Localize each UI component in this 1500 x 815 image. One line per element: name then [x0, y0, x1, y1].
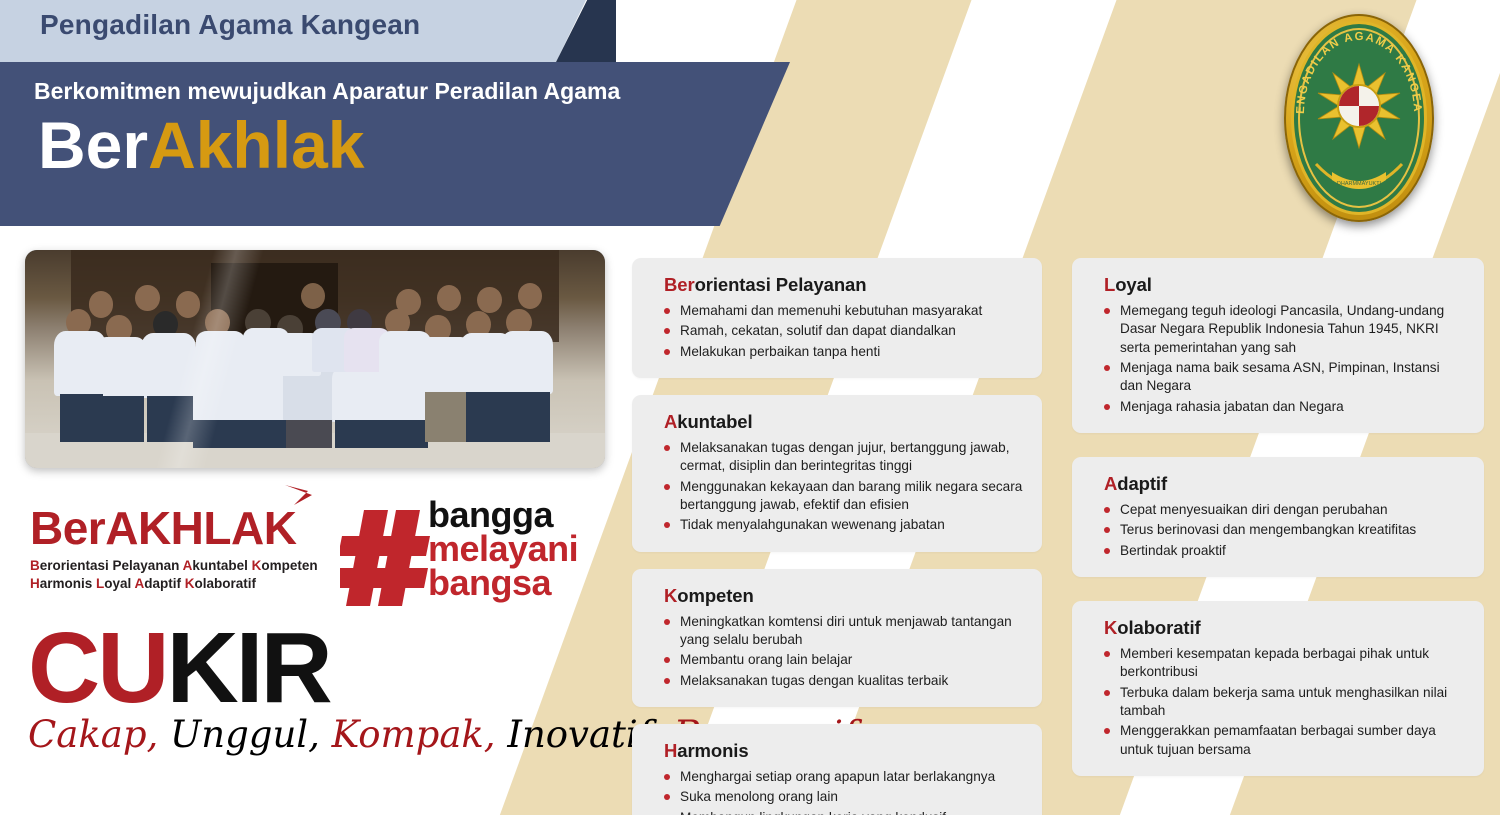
list-item: Menjaga nama baik sesama ASN, Pimpinan, … — [1104, 359, 1466, 396]
list-item: Cepat menyesuaikan diri dengan perubahan — [1104, 501, 1466, 519]
value-card: Akuntabel Melaksanakan tugas dengan juju… — [632, 395, 1042, 552]
institution-name: Pengadilan Agama Kangean — [40, 9, 420, 41]
text-run: A — [135, 576, 145, 591]
text-run: olaboratif — [195, 576, 257, 591]
value-title-rest: armonis — [677, 740, 748, 761]
value-list: Cepat menyesuaikan diri dengan perubahan… — [1104, 501, 1466, 560]
value-title-highlight: Ber — [664, 274, 695, 295]
value-title: Loyal — [1104, 274, 1466, 296]
text-run: B — [30, 558, 40, 573]
value-list: Memegang teguh ideologi Pancasila, Undan… — [1104, 302, 1466, 416]
staff-group-photo — [25, 250, 605, 468]
header-subtitle: Berkomitmen mewujudkan Aparatur Peradila… — [34, 78, 620, 105]
tagline-line-1: Berorientasi Pelayanan Akuntabel Kompete… — [30, 557, 318, 575]
list-item: Membangun lingkungan kerja yang kondusif — [664, 809, 1024, 815]
bangga-melayani-bangsa-logo: bangga melayani bangsa — [340, 498, 600, 616]
text-run: erorientasi Pelayanan — [40, 558, 183, 573]
value-card: Harmonis Menghargai setiap orang apapun … — [632, 724, 1042, 815]
text-run: ompeten — [261, 558, 317, 573]
list-item: Ramah, cekatan, solutif dan dapat dianda… — [664, 322, 1024, 340]
list-item: Menggerakkan pemamfaatan berbagai sumber… — [1104, 722, 1466, 759]
hashtag-line-3: bangsa — [428, 566, 578, 600]
list-item: Melaksanakan tugas dengan kualitas terba… — [664, 672, 1024, 690]
value-title: Kompeten — [664, 585, 1024, 607]
text-run: H — [30, 576, 40, 591]
list-item: Memegang teguh ideologi Pancasila, Undan… — [1104, 302, 1466, 357]
value-title-rest: kuntabel — [677, 411, 752, 432]
list-item: Meningkatkan komtensi diri untuk menjawa… — [664, 613, 1024, 650]
text-run: K — [252, 558, 262, 573]
value-title: Harmonis — [664, 740, 1024, 762]
seal-shield — [1337, 84, 1381, 128]
text-run: oyal — [104, 576, 134, 591]
list-item: Terus berinovasi dan mengembangkan kreat… — [1104, 521, 1466, 539]
list-item: Terbuka dalam bekerja sama untuk menghas… — [1104, 684, 1466, 721]
headline-suffix: Akhlak — [148, 108, 364, 182]
value-card: Kolaboratif Memberi kesempatan kepada be… — [1072, 601, 1484, 776]
court-seal-icon: PENGADILAN AGAMA KANGEAN DHARMMAYUKTI — [1284, 14, 1434, 222]
cukir-part-1: CU — [28, 612, 166, 724]
value-list: Meningkatkan komtensi diri untuk menjawa… — [664, 613, 1024, 690]
list-item: Menghargai setiap orang apapun latar ber… — [664, 768, 1024, 786]
list-item: Melaksanakan tugas dengan jujur, bertang… — [664, 439, 1024, 476]
value-list: Menghargai setiap orang apapun latar ber… — [664, 768, 1024, 815]
text-run: A — [183, 558, 193, 573]
value-title: Berorientasi Pelayanan — [664, 274, 1024, 296]
values-column-right: Loyal Memegang teguh ideologi Pancasila,… — [1072, 258, 1484, 793]
list-item: Memahami dan memenuhi kebutuhan masyarak… — [664, 302, 1024, 320]
list-item: Melakukan perbaikan tanpa henti — [664, 343, 1024, 361]
value-title-highlight: H — [664, 740, 677, 761]
text-run: daptif — [144, 576, 185, 591]
value-card: Loyal Memegang teguh ideologi Pancasila,… — [1072, 258, 1484, 433]
list-item: Menggunakan kekayaan dan barang milik ne… — [664, 478, 1024, 515]
list-item: Memberi kesempatan kepada berbagai pihak… — [1104, 645, 1466, 682]
berakhlak-word-prefix: Ber — [30, 502, 105, 554]
value-title-highlight: K — [1104, 617, 1117, 638]
value-title-highlight: A — [664, 411, 677, 432]
values-column-left: Berorientasi Pelayanan Memahami dan meme… — [632, 258, 1042, 815]
berakhlak-tagline: Berorientasi Pelayanan Akuntabel Kompete… — [30, 557, 318, 593]
value-title-rest: oyal — [1115, 274, 1152, 295]
text-run: Kompak, — [320, 713, 496, 756]
value-list: Melaksanakan tugas dengan jujur, bertang… — [664, 439, 1024, 535]
berakhlak-wordmark: BerAKHLAK — [30, 505, 318, 551]
text-run: K — [185, 576, 195, 591]
value-title-highlight: A — [1104, 473, 1117, 494]
hashtag-icon — [340, 506, 432, 610]
headline-prefix: Ber — [38, 108, 148, 182]
value-title-highlight: K — [664, 585, 677, 606]
tagline-line-2: Harmonis Loyal Adaptif Kolaboratif — [30, 575, 318, 593]
list-item: Membantu orang lain belajar — [664, 651, 1024, 669]
swoosh-icon — [282, 483, 316, 517]
berakhlak-logo: BerAKHLAK Berorientasi Pelayanan Akuntab… — [30, 505, 318, 593]
value-card: Adaptif Cepat menyesuaikan diri dengan p… — [1072, 457, 1484, 577]
value-title: Adaptif — [1104, 473, 1466, 495]
list-item: Menjaga rahasia jabatan dan Negara — [1104, 398, 1466, 416]
value-title: Akuntabel — [664, 411, 1024, 433]
list-item: Tidak menyalahgunakan wewenang jabatan — [664, 516, 1024, 534]
value-list: Memahami dan memenuhi kebutuhan masyarak… — [664, 302, 1024, 361]
value-title-rest: orientasi Pelayanan — [695, 274, 867, 295]
text-run: Unggul, — [158, 713, 320, 756]
hashtag-line-2: melayani — [428, 532, 578, 566]
value-title: Kolaboratif — [1104, 617, 1466, 639]
value-title-rest: ompeten — [677, 585, 753, 606]
svg-text:DHARMMAYUKTI: DHARMMAYUKTI — [1337, 181, 1382, 187]
list-item: Bertindak proaktif — [1104, 542, 1466, 560]
cukir-part-2: KIR — [166, 612, 329, 724]
text-run: armonis — [40, 576, 96, 591]
poster-canvas: Pengadilan Agama Kangean Berkomitmen mew… — [0, 0, 1500, 815]
value-title-rest: daptif — [1117, 473, 1167, 494]
list-item: Suka menolong orang lain — [664, 788, 1024, 806]
value-title-highlight: L — [1104, 274, 1115, 295]
value-card: Berorientasi Pelayanan Memahami dan meme… — [632, 258, 1042, 378]
berakhlak-headline: BerAkhlak — [38, 112, 365, 178]
value-list: Memberi kesempatan kepada berbagai pihak… — [1104, 645, 1466, 759]
text-run: kuntabel — [192, 558, 251, 573]
hashtag-line-1: bangga — [428, 498, 578, 532]
hashtag-text-lines: bangga melayani bangsa — [428, 498, 578, 601]
text-run: Cakap, — [28, 713, 158, 756]
value-title-rest: olaboratif — [1117, 617, 1200, 638]
berakhlak-word-suffix: AKHLAK — [105, 502, 296, 554]
value-card: Kompeten Meningkatkan komtensi diri untu… — [632, 569, 1042, 707]
